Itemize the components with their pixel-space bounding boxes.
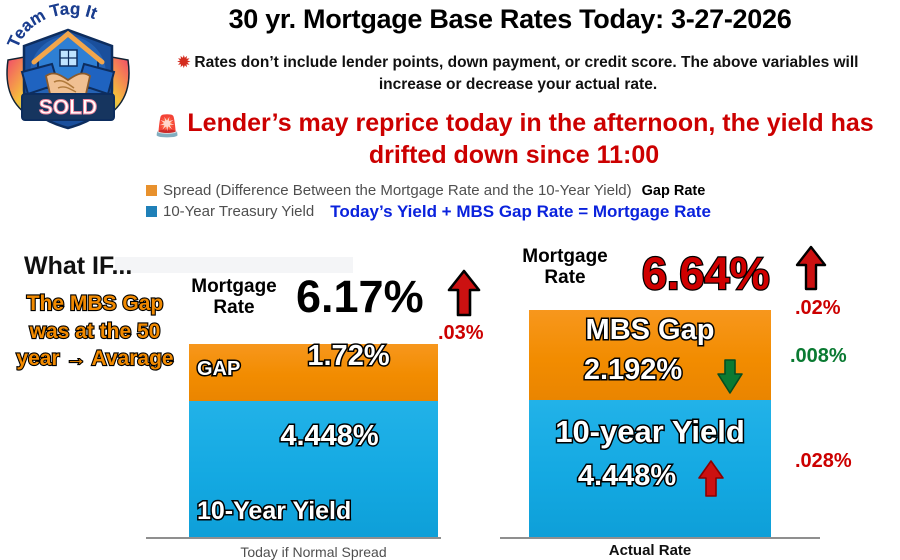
legend-gap-rate-label: Gap Rate — [642, 183, 706, 199]
right-bar-segment-gap: MBS Gap 2.192% — [529, 310, 771, 400]
right-yield-delta: .028% — [795, 450, 852, 473]
reprice-alert: 🚨 Lender’s may reprice today in the afte… — [130, 108, 898, 172]
left-category-label: Today if Normal Spread — [189, 544, 438, 560]
left-bar-segment-yield: 4.448% 10-Year Yield — [189, 401, 438, 537]
left-total-up-arrow-icon — [444, 268, 484, 318]
infographic-root: SOLD Team Tag It Team Tag It 30 yr. Mort… — [0, 0, 900, 560]
what-if-label: What IF... — [24, 252, 132, 281]
legend-swatch-yield-icon — [146, 206, 157, 217]
logo-sold-text: SOLD — [39, 96, 97, 119]
legend-item-spread: Spread (Difference Between the Mortgage … — [146, 180, 886, 201]
right-yield-value: 4.448% — [529, 460, 771, 493]
mbs-gap-note: The MBS Gap was at the 50 year → Avarage — [6, 290, 184, 373]
legend-label-spread: Spread (Difference Between the Mortgage … — [163, 182, 632, 199]
team-tag-it-sold-logo: SOLD Team Tag It Team Tag It — [2, 2, 134, 132]
right-bar-segment-yield: 10-year Yield 4.448% — [529, 400, 771, 537]
right-category-label: Actual Rate — [529, 542, 771, 559]
right-gap-down-arrow-icon — [715, 358, 745, 396]
legend-item-yield: 10-Year Treasury Yield Today’s Yield + M… — [146, 201, 886, 222]
right-axis-line — [500, 537, 820, 539]
reprice-alert-label: Lender’s may reprice today in the aftern… — [187, 109, 873, 169]
right-yield-up-arrow-icon — [695, 458, 727, 498]
right-mortgage-rate-label: Mortgage Rate — [505, 246, 625, 289]
left-yield-name: 10-Year Yield — [189, 497, 438, 526]
page-title: 30 yr. Mortgage Base Rates Today: 3-27-2… — [130, 4, 890, 35]
left-yield-value: 4.448% — [189, 420, 438, 453]
left-mortgage-rate-label: Mortgage Rate — [180, 276, 288, 319]
left-total-delta: .03% — [438, 322, 484, 345]
right-total-rate: 6.64% — [642, 248, 770, 300]
left-total-rate: 6.17% — [296, 271, 424, 323]
legend-equation: Today’s Yield + MBS Gap Rate = Mortgage … — [330, 202, 711, 222]
burst-icon: ✹ — [178, 54, 191, 71]
left-gap-value: 1.72% — [189, 340, 438, 373]
disclaimer-label: Rates don’t include lender points, down … — [194, 54, 858, 93]
right-gap-name: MBS Gap — [529, 314, 771, 347]
disclaimer-text: ✹ Rates don’t include lender points, dow… — [168, 52, 868, 97]
siren-icon: 🚨 — [154, 115, 180, 138]
left-axis-line — [146, 537, 441, 539]
legend-swatch-spread-icon — [146, 185, 157, 196]
right-total-delta: .02% — [795, 297, 841, 320]
right-gap-delta: .008% — [790, 345, 847, 368]
legend-label-yield: 10-Year Treasury Yield — [163, 203, 314, 220]
right-total-up-arrow-icon — [792, 244, 830, 292]
right-yield-name: 10-year Yield — [529, 414, 771, 450]
left-bar-segment-gap: GAP 1.72% — [189, 344, 438, 401]
chart-legend: Spread (Difference Between the Mortgage … — [146, 180, 886, 222]
